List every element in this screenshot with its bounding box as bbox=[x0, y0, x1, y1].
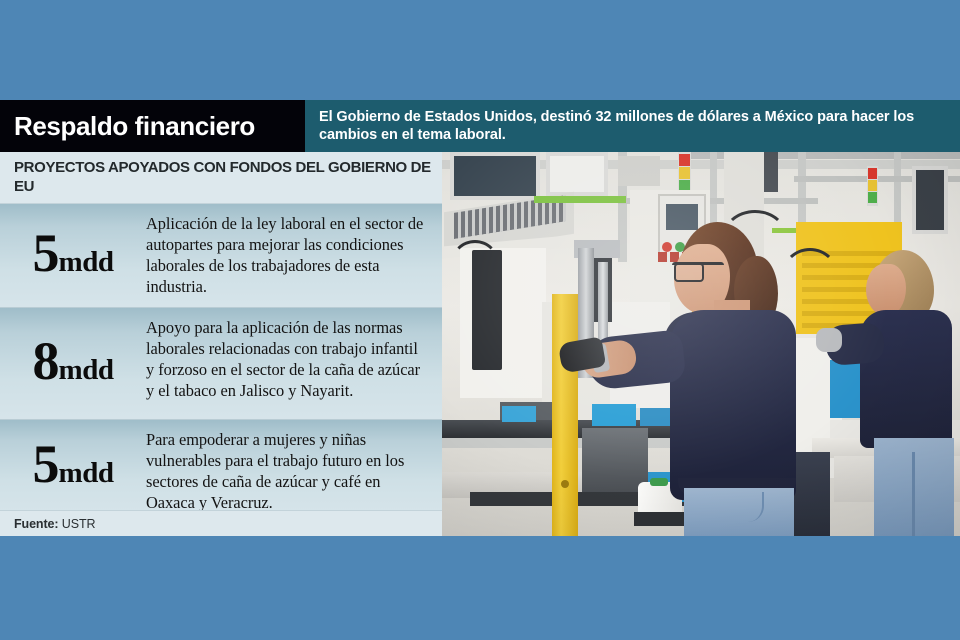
infographic-canvas: Respaldo financiero El Gobierno de Estad… bbox=[0, 0, 960, 640]
stack-light-red-icon bbox=[868, 168, 877, 179]
description-cell: Apoyo para la aplicación de las normas l… bbox=[146, 308, 442, 419]
table-rows: 5mdd Aplicación de la ley laboral en el … bbox=[0, 204, 442, 515]
amount-unit: mdd bbox=[59, 246, 114, 278]
subtitle-bar: El Gobierno de Estados Unidos, destinó 3… bbox=[305, 100, 960, 152]
title-bar: Respaldo financiero bbox=[0, 100, 305, 152]
document-sheet-icon bbox=[618, 156, 660, 186]
stack-light-green-icon bbox=[868, 192, 877, 203]
table-row: 5mdd Aplicación de la ley laboral en el … bbox=[0, 204, 442, 308]
tank-base-icon bbox=[634, 512, 686, 526]
page-title: Respaldo financiero bbox=[14, 113, 255, 139]
source-footer: Fuente: USTR bbox=[0, 510, 442, 536]
safety-glasses-lens-icon bbox=[674, 263, 704, 282]
stack-light-red-icon bbox=[679, 154, 690, 166]
safety-post-icon bbox=[552, 294, 578, 536]
factory-photo bbox=[442, 152, 960, 536]
worker-torso bbox=[670, 310, 796, 500]
worker-glove bbox=[816, 328, 842, 352]
kicker-band: PROYECTOS APOYADOS CON FONDOS DEL GOBIER… bbox=[0, 152, 442, 204]
amount-number: 5 bbox=[33, 223, 59, 283]
blue-fixture-icon bbox=[592, 404, 636, 426]
amount-cell: 5mdd bbox=[0, 204, 146, 307]
monitor-icon bbox=[912, 166, 948, 234]
source-value: USTR bbox=[58, 517, 95, 531]
row-description: Para empoderar a mujeres y niñas vulnera… bbox=[146, 429, 428, 513]
worker-jeans-seam bbox=[912, 452, 915, 536]
blue-fixture-icon bbox=[502, 406, 536, 422]
post-bolt-icon bbox=[561, 480, 569, 488]
kicker-text: PROYECTOS APOYADOS CON FONDOS DEL GOBIER… bbox=[14, 158, 432, 196]
amount-value: 5mdd bbox=[33, 437, 114, 491]
amount-number: 5 bbox=[33, 434, 59, 494]
projects-table: PROYECTOS APOYADOS CON FONDOS DEL GOBIER… bbox=[0, 152, 442, 536]
table-row: 5mdd Para empoderar a mujeres y niñas vu… bbox=[0, 420, 442, 515]
amount-unit: mdd bbox=[59, 354, 114, 386]
amount-unit: mdd bbox=[59, 457, 114, 489]
monitor-icon bbox=[450, 152, 540, 200]
amount-cell: 5mdd bbox=[0, 420, 146, 514]
hmi-screen-icon bbox=[666, 204, 698, 230]
amount-value: 5mdd bbox=[33, 226, 114, 280]
cable-icon bbox=[782, 248, 838, 300]
stack-light-yellow-icon bbox=[679, 167, 690, 179]
monitor-icon bbox=[546, 152, 608, 196]
worker-face bbox=[866, 264, 906, 316]
dark-part-icon bbox=[458, 452, 488, 462]
stack-light-yellow-icon bbox=[868, 180, 877, 191]
emergency-button-icon bbox=[662, 242, 672, 252]
amount-value: 8mdd bbox=[33, 334, 114, 388]
worker-leg bbox=[790, 452, 830, 536]
amount-number: 8 bbox=[33, 331, 59, 391]
row-description: Aplicación de la ley laboral en el secto… bbox=[146, 213, 428, 297]
source-text: Fuente: USTR bbox=[14, 517, 95, 531]
content-panel: PROYECTOS APOYADOS CON FONDOS DEL GOBIER… bbox=[0, 152, 960, 536]
header: Respaldo financiero El Gobierno de Estad… bbox=[0, 100, 960, 152]
source-label: Fuente: bbox=[14, 517, 58, 531]
description-cell: Aplicación de la ley laboral en el secto… bbox=[146, 204, 442, 307]
monitor-icon bbox=[762, 152, 778, 192]
row-description: Apoyo para la aplicación de las normas l… bbox=[146, 317, 428, 401]
table-row: 8mdd Apoyo para la aplicación de las nor… bbox=[0, 308, 442, 420]
tank-cap-icon bbox=[650, 478, 668, 486]
description-cell: Para empoderar a mujeres y niñas vulnera… bbox=[146, 420, 442, 514]
cable-icon bbox=[450, 240, 500, 290]
blue-fixture-icon bbox=[640, 408, 674, 426]
amount-cell: 8mdd bbox=[0, 308, 146, 419]
gantry-beam-icon bbox=[798, 152, 806, 232]
header-subtitle: El Gobierno de Estados Unidos, destinó 3… bbox=[319, 108, 948, 144]
blue-fixture-icon bbox=[830, 360, 864, 418]
worker-jeans-pocket bbox=[718, 492, 764, 522]
green-accent-strip-icon bbox=[534, 196, 626, 203]
